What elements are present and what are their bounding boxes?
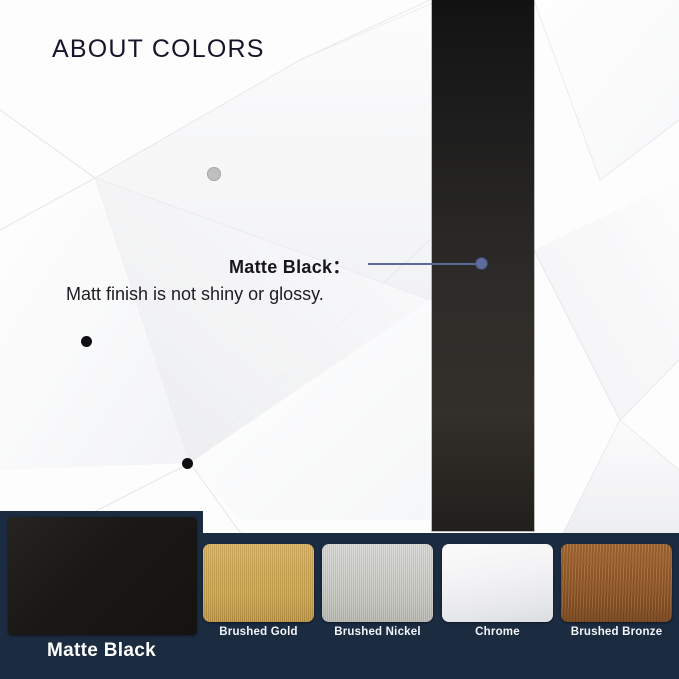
callout-label: Matte Black： (229, 253, 351, 279)
swatch-brushed-bronze[interactable] (561, 544, 672, 622)
page-title: ABOUT COLORS (52, 35, 265, 64)
decorative-dot-black-lower (182, 458, 193, 469)
swatch-label-matte-black: Matte Black (0, 640, 203, 662)
swatch-brushed-gold[interactable] (203, 544, 314, 622)
about-colors-panel: ABOUT COLORS Matte Black： Matt finish is… (0, 0, 679, 679)
swatch-label-brushed-nickel: Brushed Nickel (322, 626, 433, 638)
swatch-label-chrome: Chrome (442, 626, 553, 638)
swatch-label-brushed-gold: Brushed Gold (203, 626, 314, 638)
swatch-matte-black-selected[interactable] (8, 517, 197, 635)
decorative-dot-gray (207, 167, 221, 181)
callout-leader-line (368, 263, 481, 265)
callout-description: Matt finish is not shiny or glossy. (66, 284, 324, 305)
swatch-brushed-nickel[interactable] (322, 544, 433, 622)
callout-leader-dot (476, 258, 487, 269)
swatch-chrome[interactable] (442, 544, 553, 622)
decorative-dot-black-upper (81, 336, 92, 347)
swatch-label-brushed-bronze: Brushed Bronze (561, 626, 672, 638)
